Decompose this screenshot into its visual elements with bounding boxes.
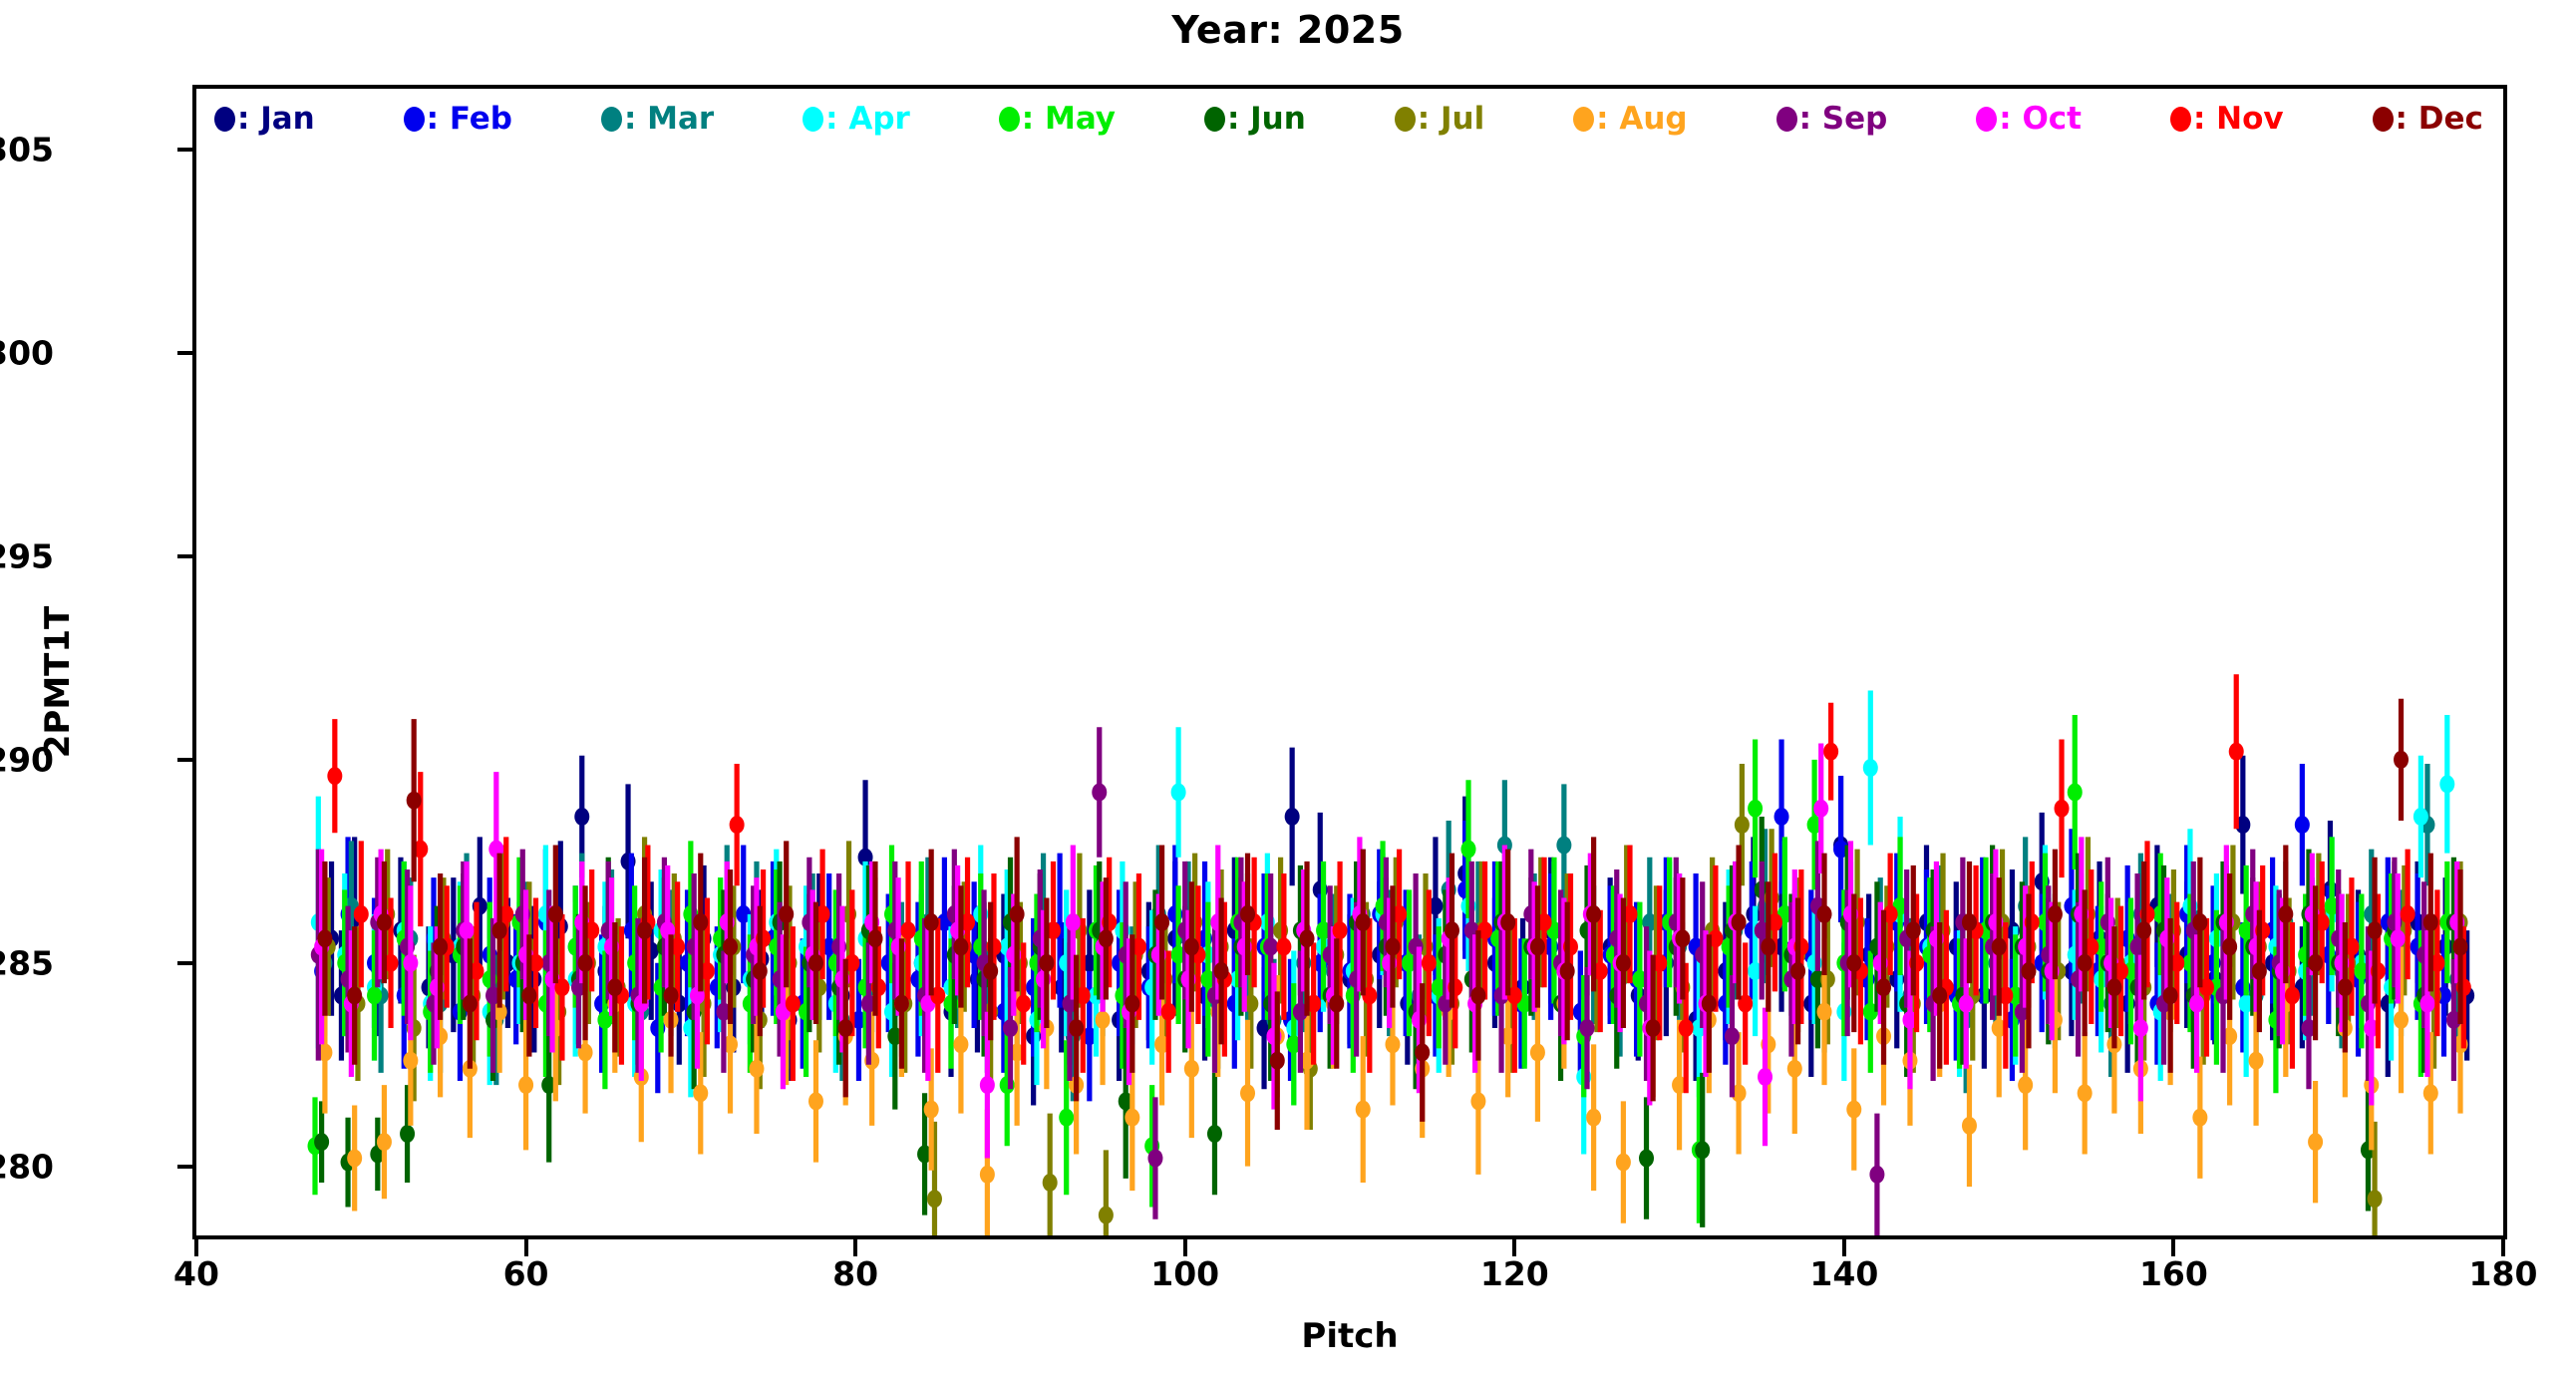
x-tick-mark	[2501, 1239, 2505, 1256]
x-tick-mark	[1512, 1239, 1516, 1256]
x-tick-mark	[194, 1239, 198, 1256]
x-tick-mark	[1183, 1239, 1187, 1256]
x-tick-label: 60	[427, 1254, 626, 1293]
y-tick-label: 285	[0, 943, 54, 982]
y-axis-label: 2PMT1T	[38, 532, 78, 832]
x-tick-label: 40	[97, 1254, 296, 1293]
x-axis-label: Pitch	[192, 1316, 2507, 1356]
y-tick-label: 305	[0, 131, 54, 170]
x-tick-label: 100	[1086, 1254, 1285, 1293]
plot-area	[196, 89, 2503, 1235]
x-tick-label: 140	[1745, 1254, 1944, 1293]
figure-root: Year: 2025 280285290295300305 4060801001…	[0, 0, 2576, 1387]
x-tick-label: 160	[2074, 1254, 2273, 1293]
x-tick-label: 180	[2404, 1254, 2576, 1293]
x-tick-mark	[2171, 1239, 2175, 1256]
x-tick-label: 120	[1415, 1254, 1614, 1293]
page-title: Year: 2025	[0, 8, 2576, 52]
x-tick-mark	[1842, 1239, 1846, 1256]
data-layer	[196, 89, 2503, 1235]
y-tick-label: 300	[0, 334, 54, 373]
x-tick-mark	[853, 1239, 857, 1256]
plot-axes: : Jan: Feb: Mar: Apr: May: Jun: Jul: Aug…	[192, 85, 2507, 1239]
y-tick-label: 280	[0, 1147, 54, 1186]
x-tick-mark	[524, 1239, 528, 1256]
series-nov	[327, 674, 2470, 1093]
x-tick-label: 80	[756, 1254, 955, 1293]
